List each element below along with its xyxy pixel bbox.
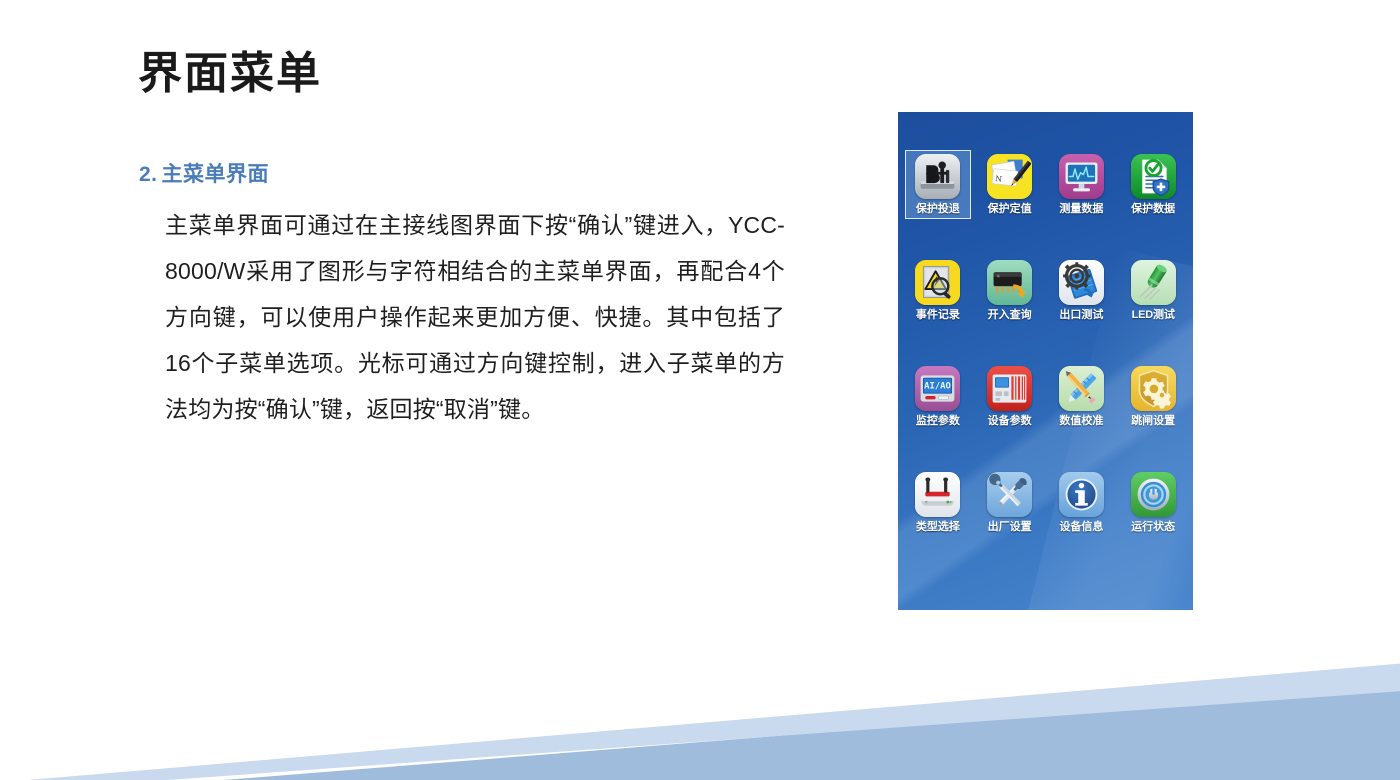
menu-item-inner: 设备参数 (977, 362, 1043, 431)
measurement-data-icon (1059, 154, 1104, 199)
body-paragraph-text: 主菜单界面可通过在主接线图界面下按“确认”键进入，YCC-8000/W采用了图形… (165, 202, 785, 432)
menu-item-inner: 保护数据 (1120, 150, 1186, 219)
decorative-band-lower (0, 660, 1400, 780)
type-selection-icon (915, 472, 960, 517)
menu-item-label: 出口测试 (1059, 309, 1103, 322)
menu-item-label: 测量数据 (1059, 203, 1103, 216)
body-paragraph: 主菜单界面可通过在主接线图界面下按“确认”键进入，YCC-8000/W采用了图形… (165, 202, 785, 432)
menu-item-inner: 出厂设置 (977, 468, 1043, 537)
menu-item-label: 运行状态 (1131, 521, 1175, 534)
section-number: 2. (139, 163, 158, 186)
menu-item-label: 设备信息 (1059, 521, 1103, 534)
value-calibration-icon (1059, 366, 1104, 411)
protection-enable-icon (915, 154, 960, 199)
menu-item-device-info[interactable]: 设备信息 (1046, 462, 1118, 568)
menu-item-label: 事件记录 (916, 309, 960, 322)
event-log-icon (915, 260, 960, 305)
run-status-icon (1131, 472, 1176, 517)
menu-item-inner: 出口测试 (1048, 256, 1114, 325)
device-screen: 保护投退 N 保护定值 (898, 112, 1193, 610)
device-parameter-icon (987, 366, 1032, 411)
menu-item-label: 监控参数 (916, 415, 960, 428)
menu-item-inner: 运行状态 (1120, 468, 1186, 537)
menu-item-inner: 数值校准 (1048, 362, 1114, 431)
menu-item-label: 跳闸设置 (1131, 415, 1175, 428)
menu-item-protection-setting[interactable]: N 保护定值 (974, 144, 1046, 250)
svg-text:AI/AO: AI/AO (924, 382, 951, 392)
menu-item-monitor-parameter[interactable]: AI/AO 监控参数 (902, 356, 974, 462)
binary-input-query-icon (987, 260, 1032, 305)
menu-item-label: 设备参数 (988, 415, 1032, 428)
protection-setting-icon: N (987, 154, 1032, 199)
menu-item-led-test[interactable]: LED测试 (1117, 250, 1189, 356)
decorative-band-upper (0, 660, 1400, 780)
section-heading-text: 主菜单界面 (162, 163, 270, 186)
main-menu-icon-grid: 保护投退 N 保护定值 (898, 144, 1193, 568)
menu-item-label: 出厂设置 (988, 521, 1032, 534)
menu-item-inner: N 保护定值 (977, 150, 1043, 219)
menu-item-inner: 保护投退 (905, 150, 971, 219)
menu-item-trip-setting[interactable]: 跳闸设置 (1117, 356, 1189, 462)
page-title: 界面菜单 (138, 48, 322, 101)
menu-item-output-test[interactable]: 出口测试 (1046, 250, 1118, 356)
led-test-icon (1131, 260, 1176, 305)
factory-setting-icon (987, 472, 1032, 517)
output-test-icon (1059, 260, 1104, 305)
menu-item-value-calibration[interactable]: 数值校准 (1046, 356, 1118, 462)
monitor-parameter-icon: AI/AO (915, 366, 960, 411)
menu-item-inner: LED测试 (1120, 256, 1186, 325)
menu-item-inner: 事件记录 (905, 256, 971, 325)
menu-item-label: 保护投退 (916, 203, 960, 216)
menu-item-inner: 开入查询 (977, 256, 1043, 325)
menu-item-label: 开入查询 (988, 309, 1032, 322)
menu-item-label: 保护定值 (988, 203, 1032, 216)
menu-item-label: 保护数据 (1131, 203, 1175, 216)
menu-item-measurement-data[interactable]: 测量数据 (1046, 144, 1118, 250)
menu-item-run-status[interactable]: 运行状态 (1117, 462, 1189, 568)
menu-item-protection-data[interactable]: 保护数据 (1117, 144, 1189, 250)
menu-item-inner: 类型选择 (905, 468, 971, 537)
slide-canvas: 界面菜单 2.主菜单界面 主菜单界面可通过在主接线图界面下按“确认”键进入，YC… (0, 0, 1400, 780)
menu-item-factory-setting[interactable]: 出厂设置 (974, 462, 1046, 568)
menu-item-inner: AI/AO 监控参数 (905, 362, 971, 431)
trip-setting-icon (1131, 366, 1176, 411)
device-info-icon (1059, 472, 1104, 517)
menu-item-protection-enable[interactable]: 保护投退 (902, 144, 974, 250)
menu-item-inner: 设备信息 (1048, 468, 1114, 537)
menu-item-label: LED测试 (1132, 309, 1175, 322)
menu-item-device-parameter[interactable]: 设备参数 (974, 356, 1046, 462)
menu-item-type-selection[interactable]: 类型选择 (902, 462, 974, 568)
menu-item-binary-input-query[interactable]: 开入查询 (974, 250, 1046, 356)
menu-item-label: 数值校准 (1059, 415, 1103, 428)
menu-item-inner: 测量数据 (1048, 150, 1114, 219)
menu-item-event-log[interactable]: 事件记录 (902, 250, 974, 356)
menu-item-label: 类型选择 (916, 521, 960, 534)
protection-data-icon (1131, 154, 1176, 199)
section-heading: 2.主菜单界面 (139, 158, 269, 188)
menu-item-inner: 跳闸设置 (1120, 362, 1186, 431)
